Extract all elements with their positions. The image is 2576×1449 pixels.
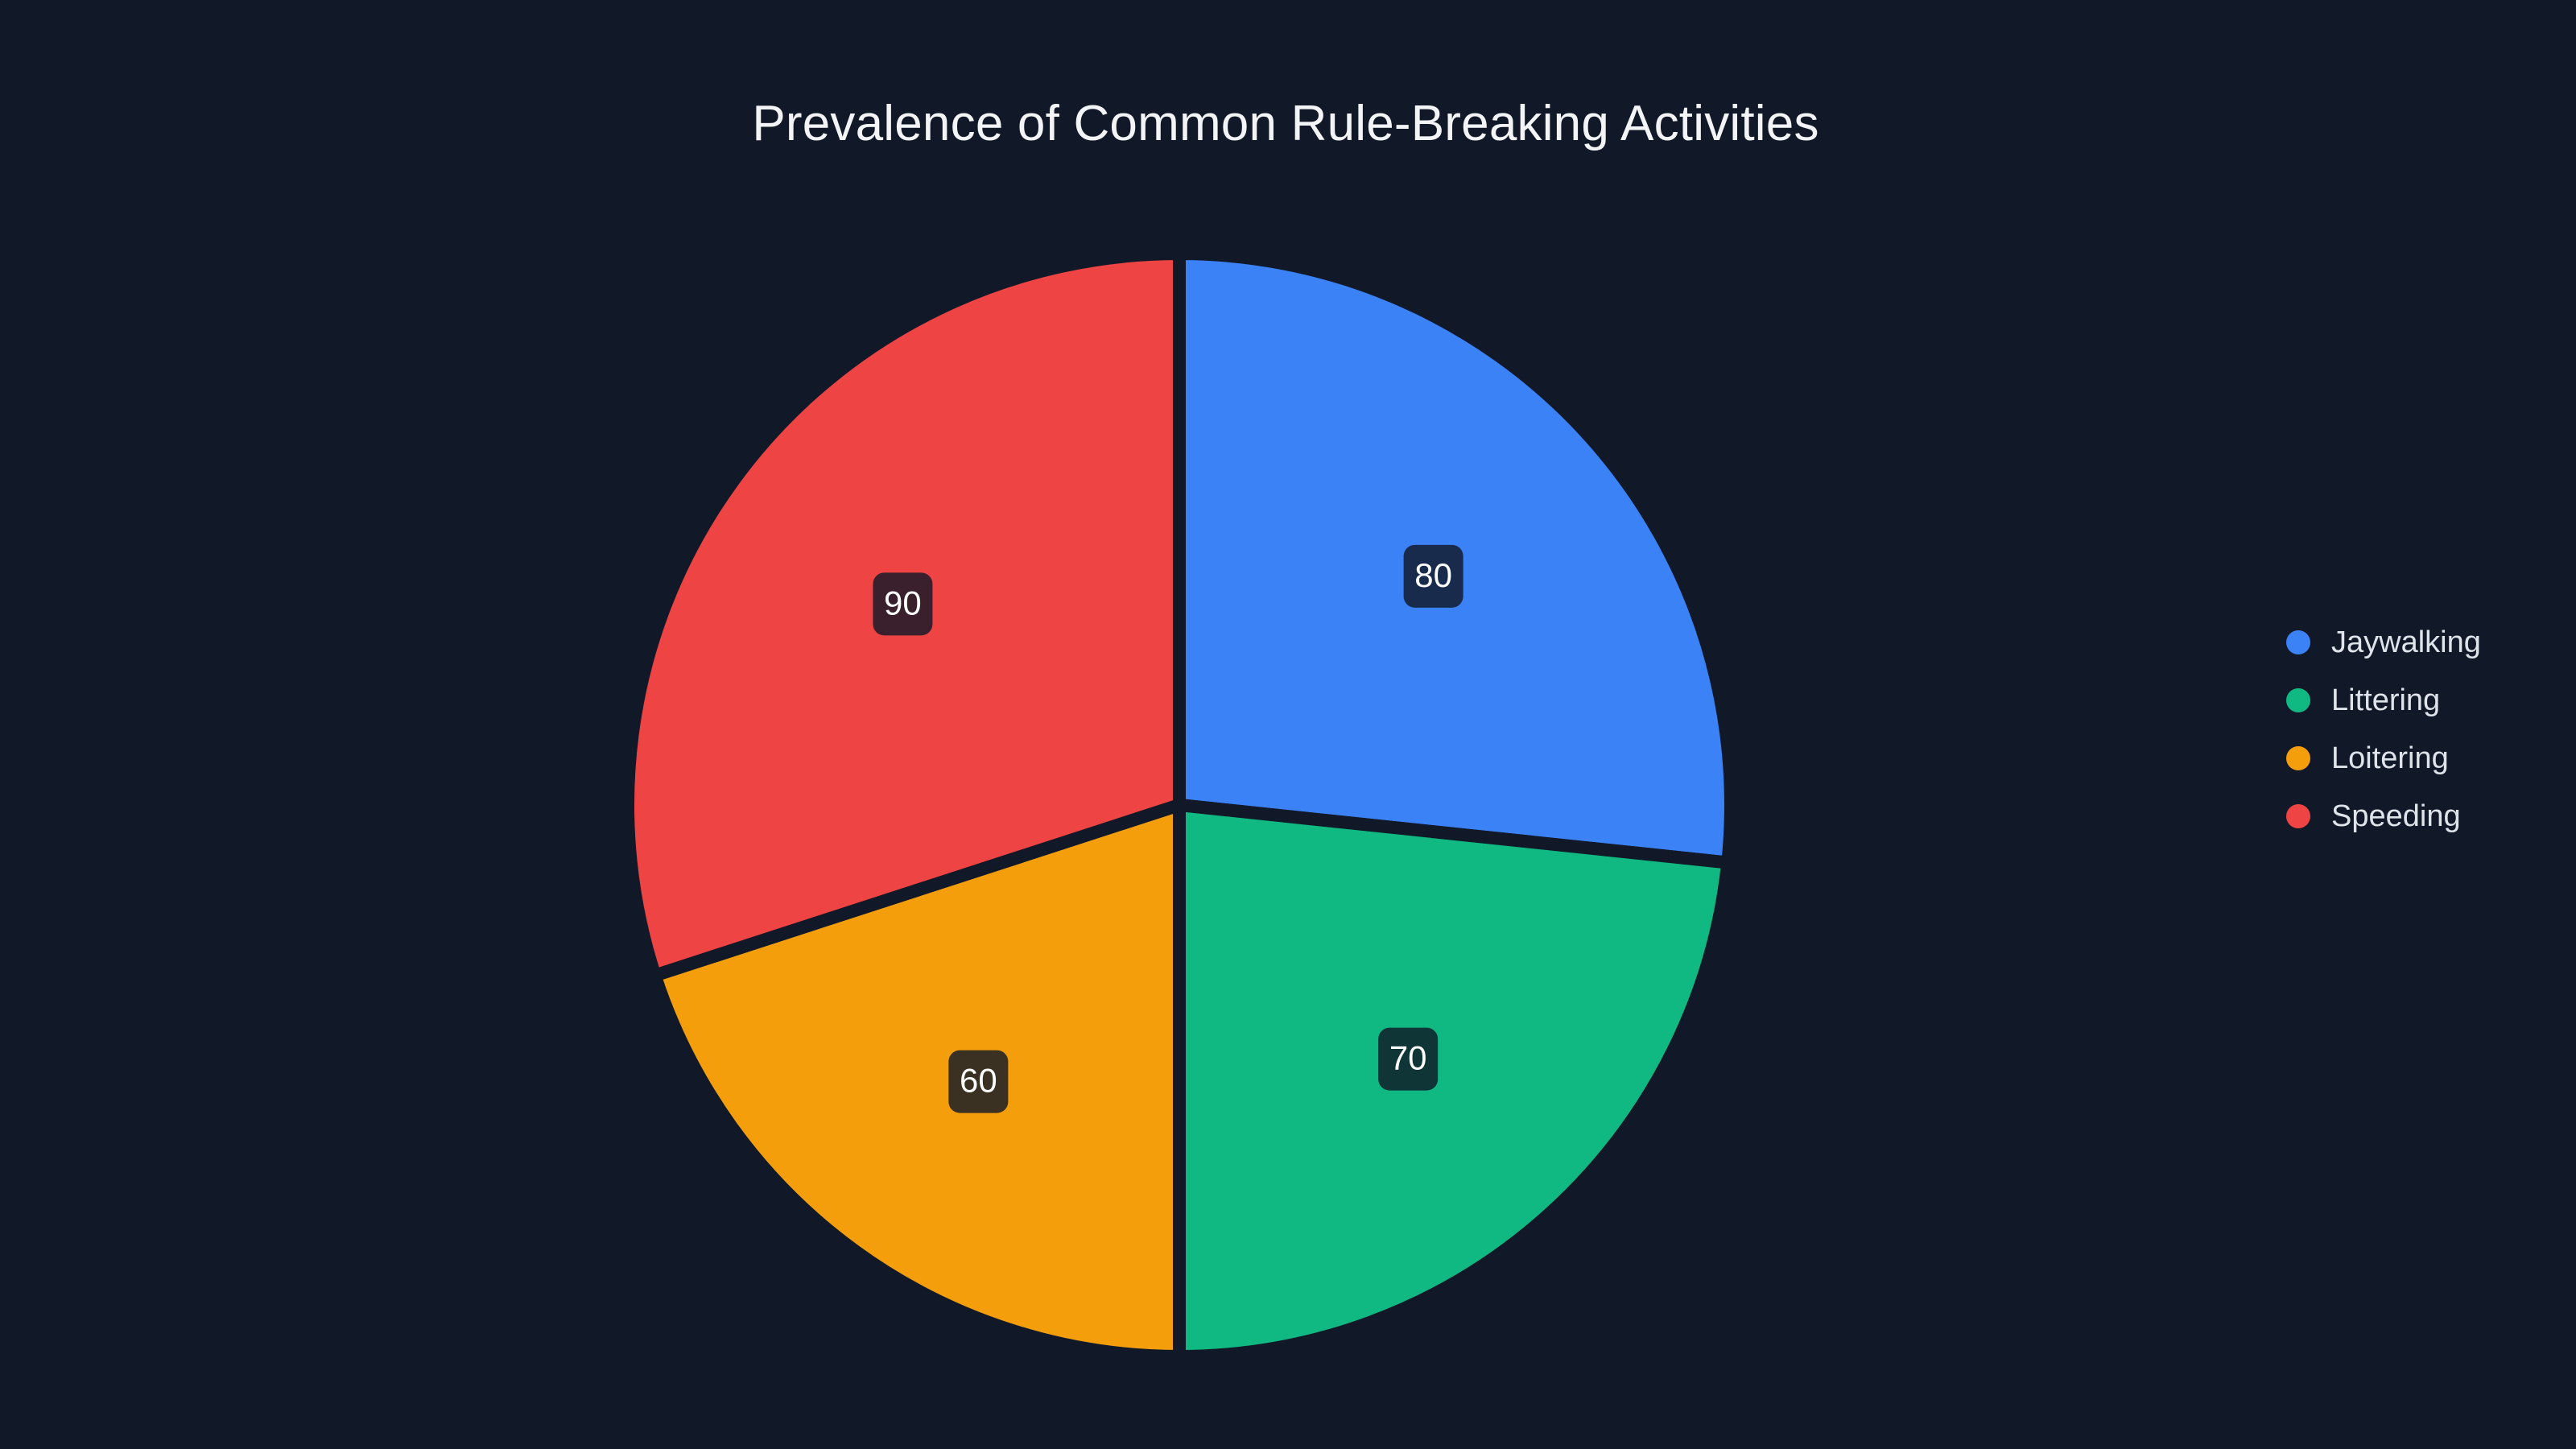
legend-item-speeding[interactable]: Speeding xyxy=(2286,787,2544,845)
legend-swatch-icon xyxy=(2286,746,2310,770)
legend-item-label: Loitering xyxy=(2331,743,2449,774)
legend-swatch-icon xyxy=(2286,804,2310,828)
pie-slice[interactable] xyxy=(1179,805,1728,1356)
pie-slices xyxy=(628,254,1731,1356)
pie-label-value: 90 xyxy=(884,584,922,621)
pie-svg: 80706090 xyxy=(0,0,2576,1449)
legend-item-label: Littering xyxy=(2331,685,2440,716)
legend: Jaywalking Littering Loitering Speeding xyxy=(2286,613,2544,845)
pie-label-value: 80 xyxy=(1414,556,1452,594)
pie-label-value: 60 xyxy=(960,1062,997,1100)
legend-item-loitering[interactable]: Loitering xyxy=(2286,729,2544,787)
chart-page: Prevalence of Common Rule-Breaking Activ… xyxy=(0,0,2576,1449)
legend-item-label: Jaywalking xyxy=(2331,627,2481,658)
pie-label-value: 70 xyxy=(1389,1039,1427,1077)
legend-swatch-icon xyxy=(2286,630,2310,654)
legend-swatch-icon xyxy=(2286,688,2310,712)
legend-item-jaywalking[interactable]: Jaywalking xyxy=(2286,613,2544,671)
pie-chart: 80706090 xyxy=(0,0,2576,1449)
legend-item-label: Speeding xyxy=(2331,801,2461,832)
legend-item-littering[interactable]: Littering xyxy=(2286,671,2544,729)
